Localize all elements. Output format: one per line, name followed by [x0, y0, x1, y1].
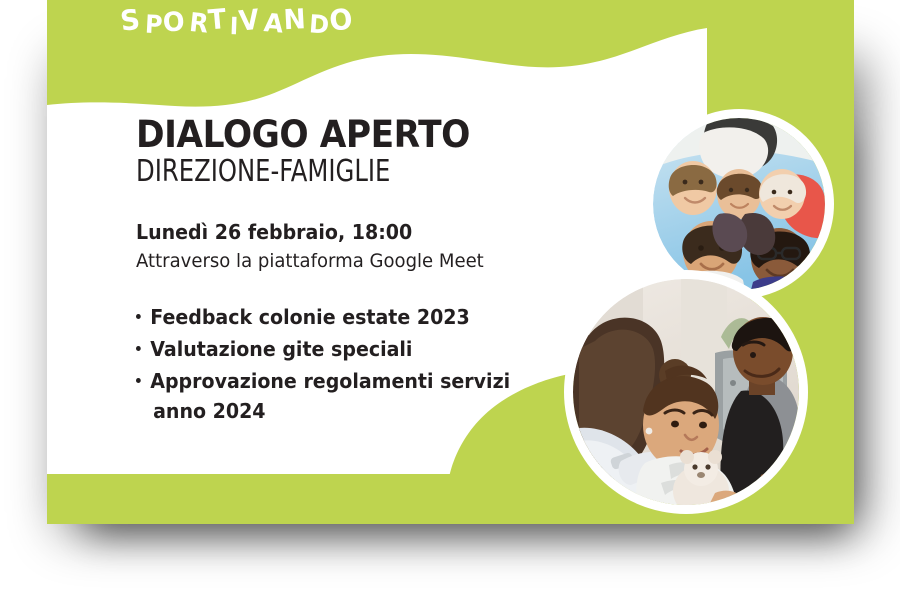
page-title: DIALOGO APERTO [136, 116, 536, 153]
flyer-card: SPORTIVANDO DIALOGO APERTO DIREZIONE-FAM… [47, 0, 854, 524]
family-meeting-photo [573, 279, 799, 505]
agenda-item-text-continuation: anno 2024 [150, 396, 544, 426]
list-item: Feedback colonie estate 2023 [136, 302, 545, 332]
flyer-stage: SPORTIVANDO DIALOGO APERTO DIREZIONE-FAM… [0, 0, 900, 600]
page-subtitle: DIREZIONE-FAMIGLIE [136, 155, 523, 189]
bullet-dot-icon [136, 346, 141, 351]
event-platform: Attraverso la piattaforma Google Meet [136, 251, 545, 273]
children-huddle-photo [653, 118, 825, 290]
brand-logo-text: SPORTIVANDO [123, 10, 383, 35]
event-datetime: Lunedì 26 febbraio, 18:00 [136, 221, 545, 243]
list-item: Approvazione regolamenti servizi anno 20… [136, 366, 545, 426]
agenda-list: Feedback colonie estate 2023 Valutazione… [136, 302, 566, 426]
bullet-dot-icon [136, 314, 141, 319]
bullet-dot-icon [136, 378, 141, 383]
list-item: Valutazione gite speciali [136, 334, 545, 364]
agenda-item-text: Valutazione gite speciali [150, 337, 412, 361]
agenda-item-text: Feedback colonie estate 2023 [150, 305, 470, 329]
agenda-item-text: Approvazione regolamenti servizi [150, 369, 510, 393]
brand-logo: SPORTIVANDO [123, 10, 383, 56]
flyer-content: DIALOGO APERTO DIREZIONE-FAMIGLIE Lunedì… [136, 116, 566, 428]
